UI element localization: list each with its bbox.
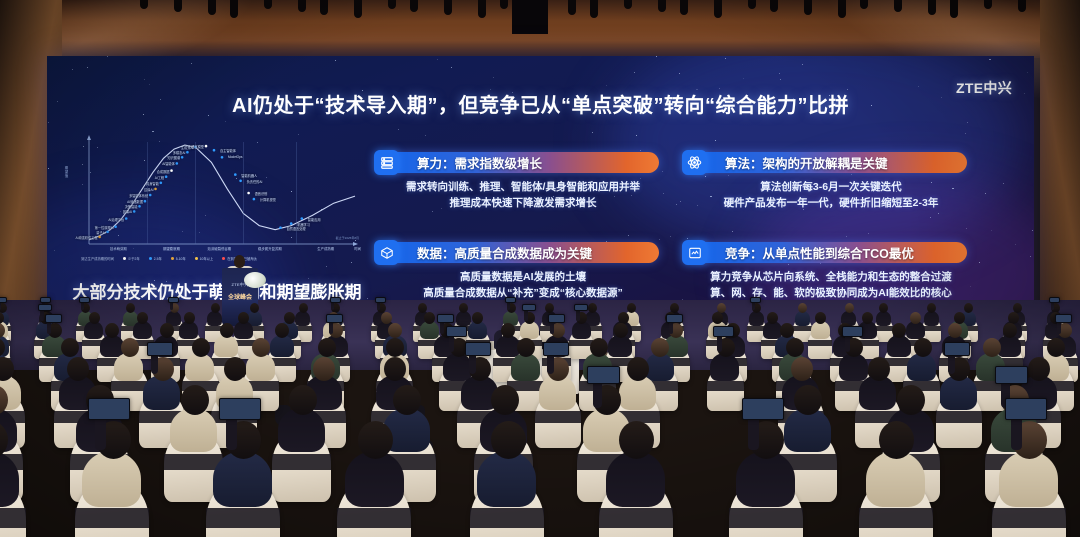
- audience-phone: [88, 398, 130, 420]
- chart-point-label: 计算机视觉: [260, 197, 276, 202]
- audience-head: [381, 312, 392, 324]
- phone-screen: [588, 367, 619, 383]
- ceiling-light: [838, 0, 846, 18]
- audience-head: [491, 421, 526, 459]
- chart-stage-label: 期望膨胀期: [163, 246, 180, 251]
- audience-phone: [750, 297, 761, 303]
- chart-point-label: 机器学习: [297, 222, 310, 227]
- ceiling-projector-box: [512, 0, 548, 34]
- phone-screen: [1006, 399, 1046, 419]
- audience-person: [214, 335, 238, 357]
- ceiling-light: [748, 0, 756, 9]
- chart-x-axis-label: 时间: [354, 246, 361, 251]
- audience-head: [393, 385, 421, 415]
- ceiling-light: [770, 0, 778, 12]
- audience-person: [185, 353, 214, 381]
- audience-person: [645, 353, 674, 381]
- card-algorithm-line-1: 算法创新每3-6月一次关键迭代: [695, 179, 967, 195]
- chair-band: [936, 411, 982, 423]
- ceiling-light: [984, 0, 992, 9]
- audience-head: [252, 338, 270, 357]
- ceiling-light: [230, 0, 238, 18]
- audience-person: [477, 451, 536, 507]
- phone-screen: [843, 327, 862, 336]
- audience-head: [67, 357, 89, 381]
- audience-phone: [465, 342, 491, 356]
- phone-screen: [544, 343, 568, 355]
- ceiling-light: [354, 0, 362, 18]
- audience-head: [794, 385, 822, 415]
- card-algorithm-header: 算法：架构的开放解耦是关键: [695, 152, 967, 173]
- audience-phone: [79, 297, 90, 303]
- chart-point-label: ModelOps: [228, 155, 243, 159]
- card-compute-line-1: 需求转向训练、推理、智能体/具身智能和应用并举: [387, 179, 659, 195]
- audience-head: [491, 385, 519, 415]
- hype-cycle-chart: 期望值 截止于2025年8月 技术萌芽期期望膨胀期泡沫破裂低谷期稳步爬升复苏期生…: [63, 128, 363, 268]
- audience-head: [384, 357, 406, 381]
- ceiling-light: [444, 0, 452, 15]
- chart-point-label: AI就绪数据: [127, 199, 143, 204]
- ceiling-light: [928, 0, 936, 15]
- phone-screen: [506, 298, 515, 302]
- phone-screen: [1050, 298, 1059, 302]
- chart-point-label: 决策智能: [125, 204, 138, 209]
- audience-head: [472, 312, 483, 324]
- audience-phone: [543, 342, 569, 356]
- ceiling-light: [140, 0, 148, 9]
- audience-person: [736, 451, 795, 507]
- audience-head: [181, 385, 209, 415]
- phone-screen: [743, 399, 783, 419]
- phone-screen: [331, 298, 340, 302]
- conference-hall-photo: ZTE中兴 AI仍处于“技术导入期”，但竞争已从“单点突破”转向“综合能力”比拼…: [0, 0, 1080, 537]
- audience-head: [627, 303, 636, 313]
- chart-point-label: 第一性原理AI: [95, 225, 114, 230]
- ceiling-light: [590, 0, 598, 18]
- audience-head: [192, 338, 210, 357]
- audience-phone: [147, 342, 173, 356]
- chair-band: [535, 411, 581, 423]
- led-presentation-screen: ZTE中兴 AI仍处于“技术导入期”，但竞争已从“单点突破”转向“综合能力”比拼…: [47, 56, 1034, 321]
- chair-band: [599, 508, 673, 528]
- phone-screen: [575, 305, 587, 310]
- chart-point-label: 边缘AI: [144, 187, 153, 192]
- audience-phone: [326, 314, 343, 323]
- ceiling-light: [714, 0, 722, 18]
- audience-head: [651, 338, 669, 357]
- audience-person: [907, 353, 936, 381]
- audience-person: [207, 311, 222, 326]
- ceiling-light: [500, 0, 508, 9]
- audience-head: [238, 312, 249, 324]
- audience-head: [358, 421, 393, 459]
- audience-head: [964, 303, 973, 313]
- server-stack-icon: [374, 150, 399, 175]
- audience-person: [213, 451, 272, 507]
- ceiling-light: [478, 0, 486, 18]
- ceiling-light: [860, 0, 868, 9]
- chair-band: [272, 454, 331, 470]
- audience-head: [137, 312, 148, 324]
- audience-head: [105, 323, 119, 338]
- audience-head: [914, 338, 932, 357]
- ceiling-light: [320, 0, 328, 15]
- audience-head: [121, 338, 139, 357]
- audience-head: [220, 323, 234, 338]
- audience-head: [927, 303, 936, 313]
- phone-screen: [447, 327, 466, 336]
- card-competition-body: 算力竞争从芯片向系统、全栈能力和生态的整合过渡 算、网、存、能、软的极致协同成为…: [695, 269, 967, 301]
- chart-point-label: AI工程: [155, 175, 164, 180]
- phone-screen: [376, 298, 385, 302]
- atom-icon: [682, 150, 707, 175]
- phone-screen: [39, 305, 51, 310]
- card-compute-body: 需求转向训练、推理、智能体/具身智能和应用并举 推理成本快速下降激发需求增长: [387, 179, 659, 211]
- audience-head: [418, 303, 427, 313]
- chart-point-label: 多智能体系统: [129, 193, 148, 198]
- chart-point-label: 具身智能: [146, 181, 159, 186]
- audience-head: [284, 312, 295, 324]
- audience-head: [313, 357, 335, 381]
- audience-phone: [330, 297, 341, 303]
- audience-head: [1047, 338, 1065, 357]
- audience-head: [627, 357, 649, 381]
- audience-phone: [437, 314, 454, 323]
- phone-screen: [41, 298, 50, 302]
- audience-head: [318, 338, 336, 357]
- audience-person: [999, 451, 1058, 507]
- audience-phone: [1005, 398, 1047, 420]
- chart-point-label: 知识图谱: [167, 155, 180, 160]
- audience-head: [211, 303, 220, 313]
- ceiling-light: [264, 0, 272, 9]
- podium-flowers: [244, 272, 266, 288]
- audience-phone: [38, 304, 52, 311]
- audience-head: [879, 421, 914, 459]
- card-competition-header: 竞争：从单点性能到综合TCO最优: [695, 242, 967, 263]
- card-data: 数据：高质量合成数据成为关键 高质量数据是AI发展的土壤 高质量合成数据从“补充…: [387, 242, 659, 301]
- audience-head: [275, 323, 289, 338]
- audience-head: [619, 421, 654, 459]
- speaker-head: [234, 255, 245, 268]
- chart-legend: 到达生产成熟期的时间少于2年2-5年5-10年10年以上在到期之前已被淘汰: [81, 256, 361, 261]
- audience-head: [61, 338, 79, 357]
- audience-head: [712, 312, 723, 324]
- chair-band: [337, 508, 411, 528]
- phone-screen: [220, 399, 260, 419]
- audience-phone: [1049, 297, 1060, 303]
- audience-phone: [40, 297, 51, 303]
- ceiling-light: [298, 0, 306, 12]
- card-competition: 竞争：从单点性能到综合TCO最优 算力竞争从芯片向系统、全栈能力和生态的整合过渡…: [695, 242, 967, 301]
- chair-band: [793, 326, 812, 331]
- audience-head: [892, 323, 906, 338]
- audience-phone: [0, 297, 7, 303]
- card-algorithm-title: 算法：架构的开放解耦是关键: [725, 153, 888, 172]
- chart-point-label: 智能应用: [308, 217, 321, 222]
- chart-point-label: AI智能体: [162, 161, 175, 166]
- audience-head: [224, 357, 246, 381]
- audience-head: [289, 385, 317, 415]
- chair-band: [164, 454, 223, 470]
- phone-screen: [751, 298, 760, 302]
- chart-note: 截止于2025年8月: [336, 236, 359, 240]
- audience-person: [876, 311, 891, 326]
- audience-head: [983, 338, 1001, 357]
- audience-head: [388, 323, 402, 338]
- ceiling-light: [804, 0, 812, 15]
- audience-phone: [1055, 314, 1072, 323]
- audience-head: [501, 323, 515, 338]
- phone-screen: [523, 305, 535, 310]
- phone-screen: [549, 315, 564, 322]
- audience-phone: [548, 314, 565, 323]
- chair-band: [75, 508, 149, 528]
- ceiling-light: [410, 0, 418, 12]
- audience-head: [517, 338, 535, 357]
- audience-person: [270, 335, 294, 357]
- audience-phone: [375, 297, 386, 303]
- audience-person: [295, 311, 310, 326]
- audience-head: [948, 323, 962, 338]
- chair-band: [707, 381, 744, 391]
- ceiling-light: [658, 0, 666, 12]
- chart-y-axis-label: 期望值: [65, 166, 70, 178]
- audience-head: [910, 312, 921, 324]
- chart-stage-label: 生产成熟期: [317, 246, 334, 251]
- audience-head: [126, 303, 135, 313]
- audience-head: [815, 312, 826, 324]
- phone-screen: [169, 298, 178, 302]
- audience-person: [82, 451, 141, 507]
- audience-person: [924, 311, 939, 326]
- ceiling-light: [388, 0, 396, 9]
- chair-band: [0, 508, 26, 528]
- chart-point-label: 小语言模型: [188, 144, 204, 149]
- audience-head: [614, 323, 628, 338]
- chair-band: [206, 508, 280, 528]
- card-competition-line-1: 算力竞争从芯片向系统、全栈能力和生态的整合过渡: [695, 269, 967, 285]
- card-data-line-1: 高质量数据是AI发展的土壤: [387, 269, 659, 285]
- phone-screen: [996, 367, 1027, 383]
- audience-head: [160, 323, 174, 338]
- card-data-title: 数据：高质量合成数据成为关键: [417, 243, 592, 262]
- audience-head: [862, 312, 873, 324]
- phone-screen: [0, 298, 6, 302]
- audience-phone: [666, 314, 683, 323]
- audience-phone: [574, 304, 588, 311]
- card-competition-title: 竞争：从单点性能到综合TCO最优: [725, 243, 914, 262]
- audience-person: [795, 311, 810, 326]
- audience-person: [608, 335, 632, 357]
- audience-head: [786, 338, 804, 357]
- ceiling-light: [624, 0, 632, 9]
- audience-phone: [168, 297, 179, 303]
- audience-phone: [45, 314, 62, 323]
- audience-person: [456, 311, 471, 326]
- wall-right: [1040, 0, 1080, 330]
- audience-head: [459, 303, 468, 313]
- podium-banner-text: 全球峰会: [222, 292, 258, 301]
- audience-phone: [742, 398, 784, 420]
- data-cube-icon: [374, 240, 399, 265]
- slide-title: AI仍处于“技术导入期”，但竞争已从“单点突破”转向“综合能力”比拼: [47, 89, 1034, 118]
- audience-head: [791, 357, 813, 381]
- chart-monitor-icon: [682, 240, 707, 265]
- chart-legend-item: 2-5年: [149, 256, 162, 261]
- card-compute-header: 算力：需求指数级增长: [387, 152, 659, 173]
- chart-legend-item: 少于2年: [123, 256, 140, 261]
- audience-phone: [446, 326, 467, 337]
- phone-screen: [89, 399, 129, 419]
- audience-head: [386, 338, 404, 357]
- audience-head: [588, 303, 597, 313]
- audience-head: [868, 357, 890, 381]
- audience-head: [879, 303, 888, 313]
- chart-point-label: 多模态AI: [173, 150, 186, 155]
- chart-stage-label: 泡沫破裂低谷期: [207, 246, 231, 251]
- ceiling-light: [894, 0, 902, 12]
- audience-head: [545, 303, 554, 313]
- card-compute: 算力：需求指数级增长 需求转向训练、推理、智能体/具身智能和应用并举 推理成本快…: [387, 152, 659, 211]
- audience-person: [839, 353, 868, 381]
- audience-person: [749, 311, 764, 326]
- chart-point-label: 负责任的AI: [247, 179, 263, 184]
- audience-person: [866, 451, 925, 507]
- audience-person: [345, 451, 404, 507]
- phone-screen: [80, 298, 89, 302]
- chair-band: [729, 508, 803, 528]
- card-compute-line-2: 推理成本快速下降激发需求增长: [387, 195, 659, 211]
- audience-head: [1028, 357, 1050, 381]
- phone-screen: [714, 327, 733, 336]
- audience-phone: [522, 304, 536, 311]
- audience-head: [299, 303, 308, 313]
- card-algorithm-line-2: 硬件产品发布一年一代，硬件折旧缩短至2-3年: [695, 195, 967, 211]
- chart-point-label: 自主智能体: [220, 148, 236, 153]
- phone-screen: [667, 315, 682, 322]
- audience-phone: [219, 398, 261, 420]
- ceiling-light: [680, 0, 688, 15]
- ceiling-light: [568, 0, 576, 15]
- phone-screen: [1056, 315, 1071, 322]
- audience-head: [845, 303, 854, 313]
- audience-phone: [505, 297, 516, 303]
- phone-screen: [148, 343, 172, 355]
- chair-band: [808, 340, 832, 346]
- chart-legend-item: 到达生产成熟期的时间: [81, 256, 114, 261]
- audience-head: [250, 303, 259, 313]
- phone-screen: [327, 315, 342, 322]
- audience-head: [424, 312, 435, 324]
- audience-head: [89, 312, 100, 324]
- audience-head: [590, 338, 608, 357]
- chart-point-label: 因果AI: [123, 209, 132, 214]
- card-compute-title: 算力：需求指数级增长: [417, 153, 542, 172]
- audience-person: [710, 353, 739, 381]
- ceiling: [0, 0, 1080, 58]
- chart-point-label: AI增强软件工程: [75, 235, 97, 240]
- card-data-header: 数据：高质量合成数据成为关键: [387, 242, 659, 263]
- audience-phone: [995, 366, 1028, 384]
- audience-person: [887, 335, 911, 357]
- audience-person: [511, 353, 540, 381]
- chart-point-label: 语音识别: [255, 191, 268, 196]
- audience-head: [1003, 323, 1017, 338]
- audience-head: [897, 385, 925, 415]
- ceiling-light: [174, 0, 182, 12]
- audience-phone: [842, 326, 863, 337]
- phone-screen: [438, 315, 453, 322]
- chair-band: [470, 508, 544, 528]
- audience-head: [767, 312, 778, 324]
- audience-phone: [587, 366, 620, 384]
- chart-legend-item: 5-10年: [171, 256, 186, 261]
- audience-person: [606, 451, 665, 507]
- chart-point-label: AI治理平台: [108, 217, 124, 222]
- chair-band: [992, 508, 1066, 528]
- card-competition-line-2: 算、网、存、能、软的极致协同成为AI能效比的核心: [695, 285, 967, 301]
- audience-person: [443, 353, 472, 381]
- ceiling-light: [1018, 0, 1026, 12]
- audience-head: [780, 323, 794, 338]
- audience-person: [246, 353, 275, 381]
- chart-stage-label: 技术萌芽期: [110, 246, 127, 251]
- chair-band: [859, 508, 933, 528]
- chart-point-label: 合成数据: [157, 169, 170, 174]
- card-data-line-2: 高质量合成数据从“补充”变成“核心数据源”: [387, 285, 659, 301]
- card-algorithm-body: 算法创新每3-6月一次关键迭代 硬件产品发布一年一代，硬件折旧缩短至2-3年: [695, 179, 967, 211]
- chart-point-label: 智能机器人: [241, 173, 257, 178]
- card-algorithm: 算法：架构的开放解耦是关键 算法创新每3-6月一次关键迭代 硬件产品发布一年一代…: [695, 152, 967, 211]
- phone-screen: [46, 315, 61, 322]
- chart-stage-label: 稳步爬升复苏期: [258, 246, 282, 251]
- chart-legend-item: 10年以上: [195, 256, 214, 261]
- ceiling-light: [208, 0, 216, 15]
- audience-phone: [944, 342, 970, 356]
- audience-person: [114, 353, 143, 381]
- audience-head: [798, 303, 807, 313]
- audience-head: [184, 312, 195, 324]
- phone-screen: [466, 343, 490, 355]
- chart-point-label: 量子AI: [96, 230, 105, 235]
- ceiling-light: [950, 0, 958, 18]
- phone-screen: [945, 343, 969, 355]
- card-data-body: 高质量数据是AI发展的土壤 高质量合成数据从“补充”变成“核心数据源”: [387, 269, 659, 301]
- audience-phone: [713, 326, 734, 337]
